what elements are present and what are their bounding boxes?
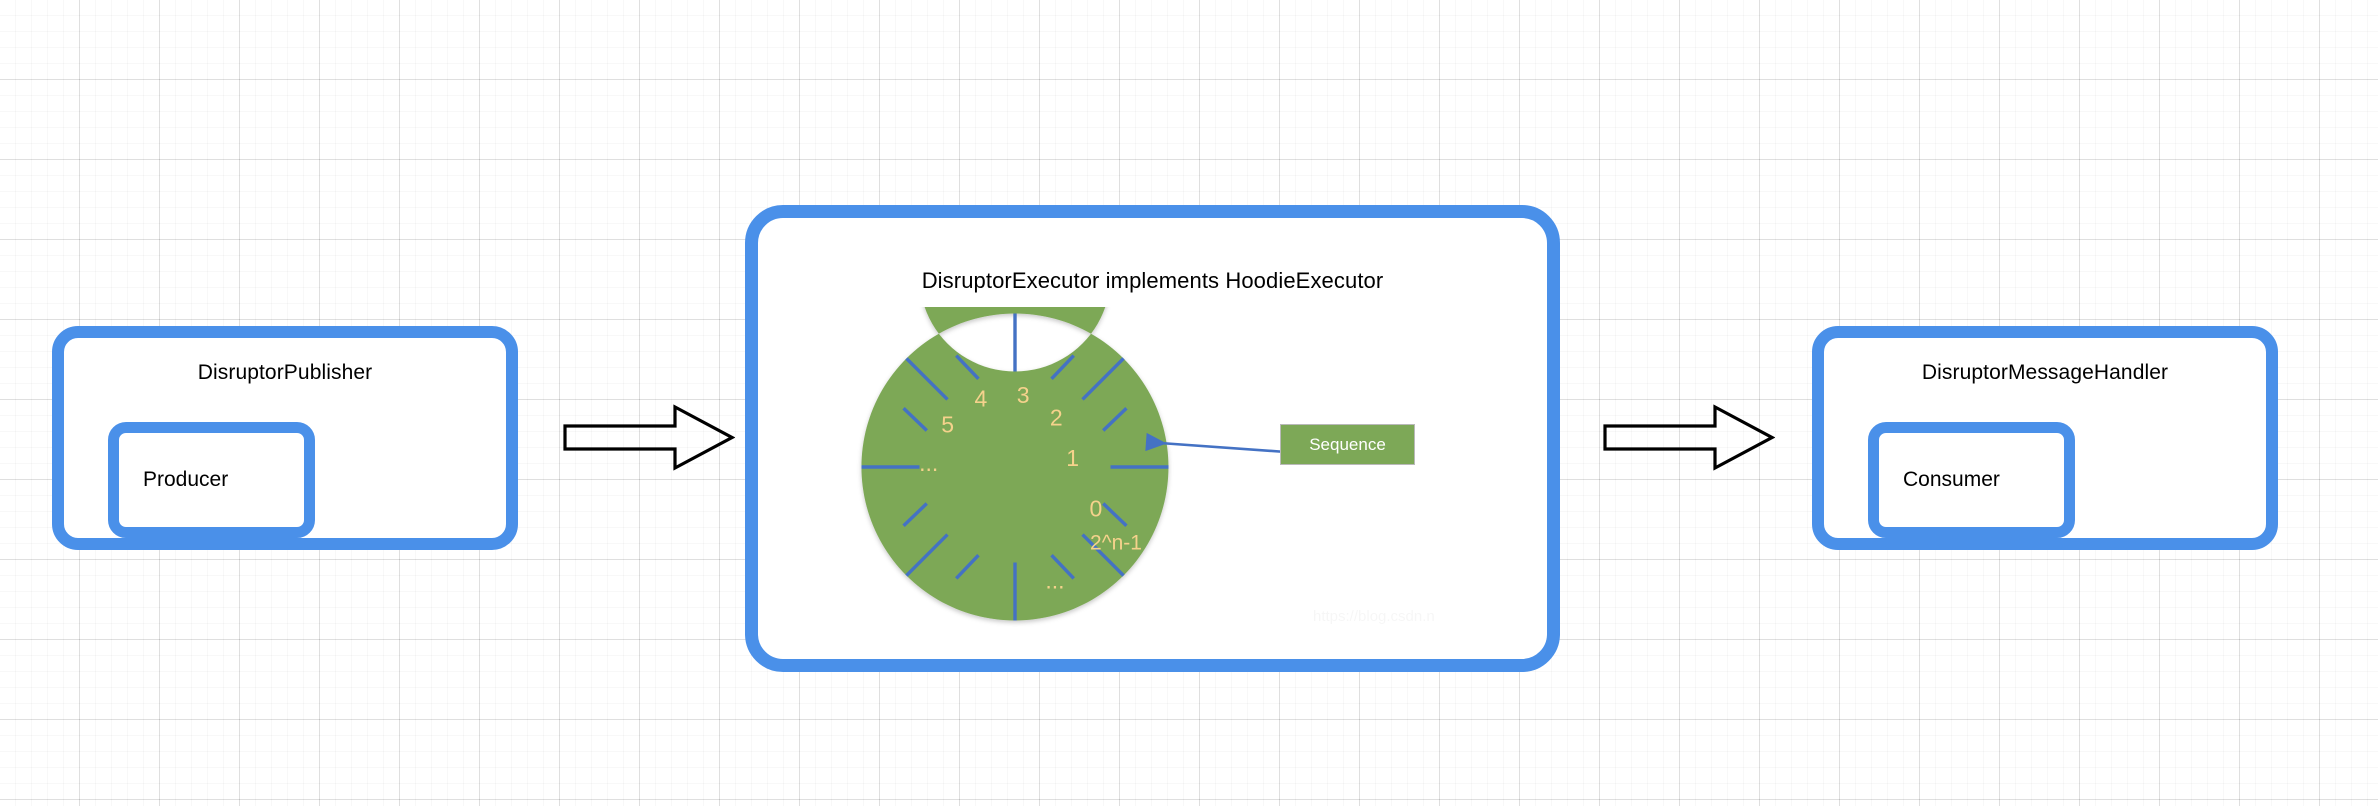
watermark-text: https://blog.csdn.n: [1313, 608, 1435, 625]
arrow-executor-to-handler: [1603, 404, 1775, 471]
sequence-to-ring-connector: [1140, 420, 1290, 470]
ring-slot-label-6: ...: [919, 450, 938, 476]
ring-slot-label-0: 0: [1090, 495, 1103, 521]
producer-box[interactable]: Producer: [108, 422, 315, 538]
disruptor-publisher-box[interactable]: DisruptorPublisher Producer: [52, 326, 518, 550]
ring-buffer[interactable]: 0 1 2 3 4 5 ... ... 2^n-1: [855, 307, 1175, 627]
ring-slot-label-5: 5: [941, 411, 954, 437]
consumer-label: Consumer: [1879, 468, 2000, 492]
sequence-label: Sequence: [1309, 435, 1386, 455]
ring-slot-label-4: 4: [975, 386, 988, 412]
disruptor-publisher-title: DisruptorPublisher: [64, 361, 506, 385]
disruptor-message-handler-box[interactable]: DisruptorMessageHandler Consumer: [1812, 326, 2278, 550]
producer-label: Producer: [119, 468, 228, 492]
diagram-canvas: DisruptorPublisher Producer DisruptorExe…: [0, 0, 2378, 806]
ring-slot-label-2n-1: 2^n-1: [1090, 532, 1142, 555]
ring-slot-label-1: 1: [1066, 445, 1079, 471]
disruptor-executor-title: DisruptorExecutor implements HoodieExecu…: [758, 268, 1547, 294]
ring-slot-label-14: ...: [1045, 568, 1064, 594]
arrow-publisher-to-executor: [563, 404, 735, 471]
consumer-box[interactable]: Consumer: [1868, 422, 2075, 538]
disruptor-message-handler-title: DisruptorMessageHandler: [1824, 361, 2266, 385]
ring-slot-label-3: 3: [1017, 382, 1030, 408]
ring-slot-label-2: 2: [1050, 404, 1063, 430]
sequence-node[interactable]: Sequence: [1280, 424, 1415, 465]
